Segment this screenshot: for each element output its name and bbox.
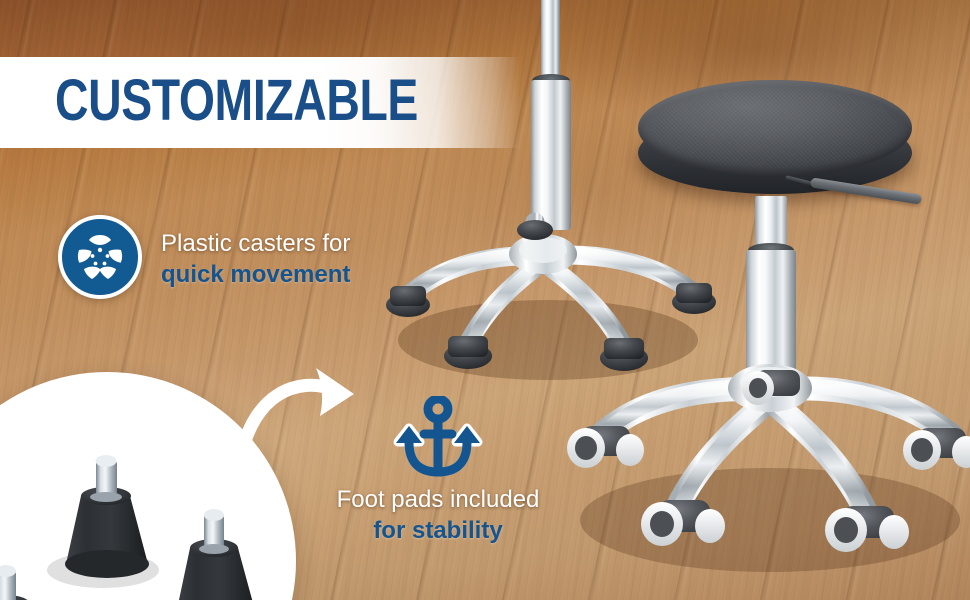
gas-cylinder-upper — [755, 196, 787, 250]
foot-pad — [0, 565, 52, 600]
product-marketing-banner: CUSTOMIZABLE — [0, 0, 970, 600]
caster-wheel-icon-badge — [58, 215, 142, 299]
feature-callout-casters: Plastic casters for quick movement — [58, 215, 358, 305]
anchor-icon-wrap — [318, 396, 558, 480]
anchor-icon — [393, 396, 483, 480]
foot-pad — [47, 455, 159, 588]
feature-line-2: quick movement — [161, 259, 421, 290]
seat-texture — [652, 88, 898, 168]
feature-line-1: Plastic casters for — [161, 228, 421, 259]
caster-wheel-icon — [73, 230, 127, 284]
foot-pad — [159, 509, 267, 600]
five-star-base-right — [560, 330, 970, 580]
gas-lift-inner-rod — [541, 0, 560, 80]
feature-line-2: for stability — [318, 515, 558, 546]
page-title: CUSTOMIZABLE — [55, 70, 418, 132]
feature-line-1: Foot pads included — [318, 484, 558, 515]
feature-callout-foot-pads-text: Foot pads included for stability — [318, 484, 558, 546]
feature-callout-casters-text: Plastic casters for quick movement — [161, 228, 421, 290]
feature-callout-foot-pads: Foot pads included for stability — [318, 396, 558, 546]
